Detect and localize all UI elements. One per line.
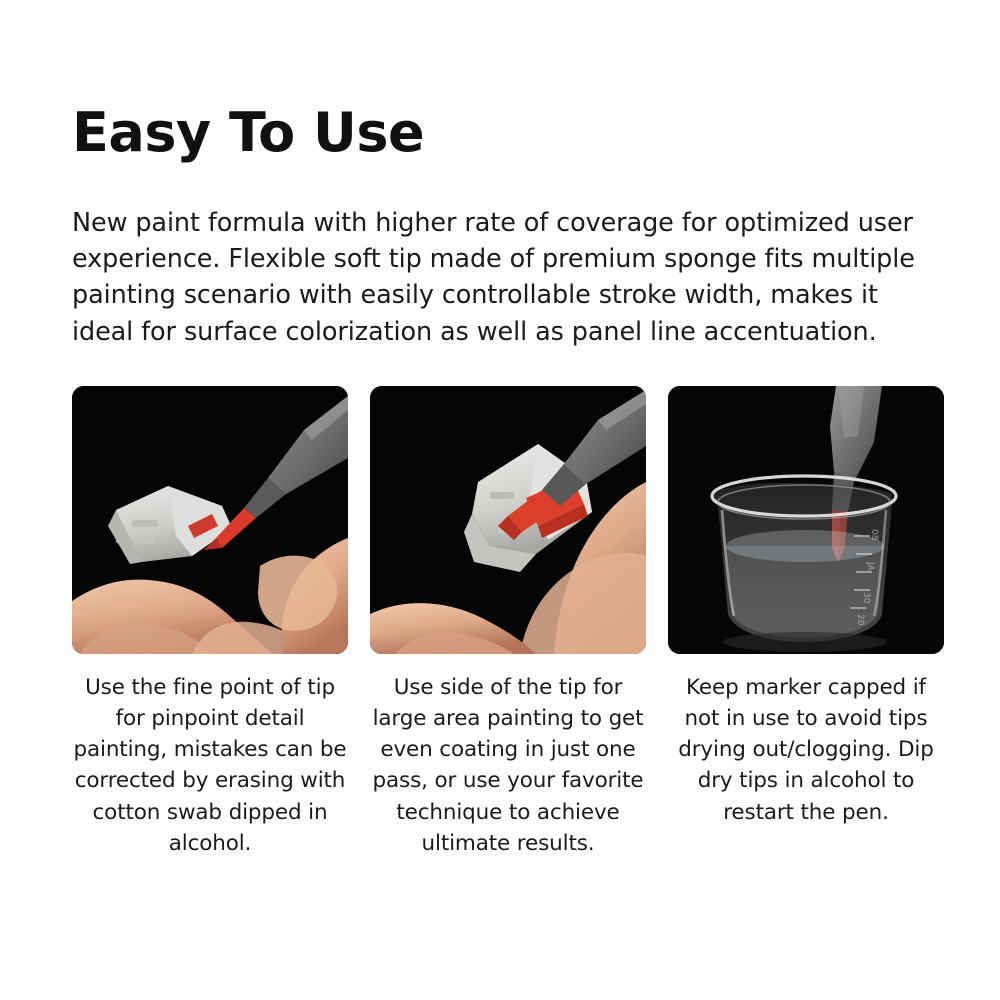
photo-fine-tip-detail [72, 386, 348, 654]
svg-text:08: 08 [869, 529, 879, 541]
instruction-card-1: Use the fine point of tip for pinpoint d… [72, 386, 348, 859]
instruction-card-2: Use side of the tip for large area paint… [370, 386, 646, 859]
photo-marker-in-alcohol-beaker: 08 JA 30 20 [668, 386, 944, 654]
instruction-card-3: 08 JA 30 20 Keep marker capped if not in… [668, 386, 944, 859]
photo-side-tip-large-area [370, 386, 646, 654]
instruction-cards: Use the fine point of tip for pinpoint d… [72, 350, 928, 859]
instruction-card-3-caption: Keep marker capped if not in use to avoi… [668, 654, 944, 828]
instruction-card-2-caption: Use side of the tip for large area paint… [370, 654, 646, 859]
instruction-card-1-caption: Use the fine point of tip for pinpoint d… [72, 654, 348, 859]
page-title: Easy To Use [72, 0, 928, 160]
intro-paragraph: New paint formula with higher rate of co… [72, 160, 928, 350]
svg-text:30: 30 [861, 592, 871, 604]
svg-text:20: 20 [855, 614, 865, 626]
svg-text:JA: JA [865, 561, 875, 571]
document-page: Easy To Use New paint formula with highe… [0, 0, 1000, 1000]
